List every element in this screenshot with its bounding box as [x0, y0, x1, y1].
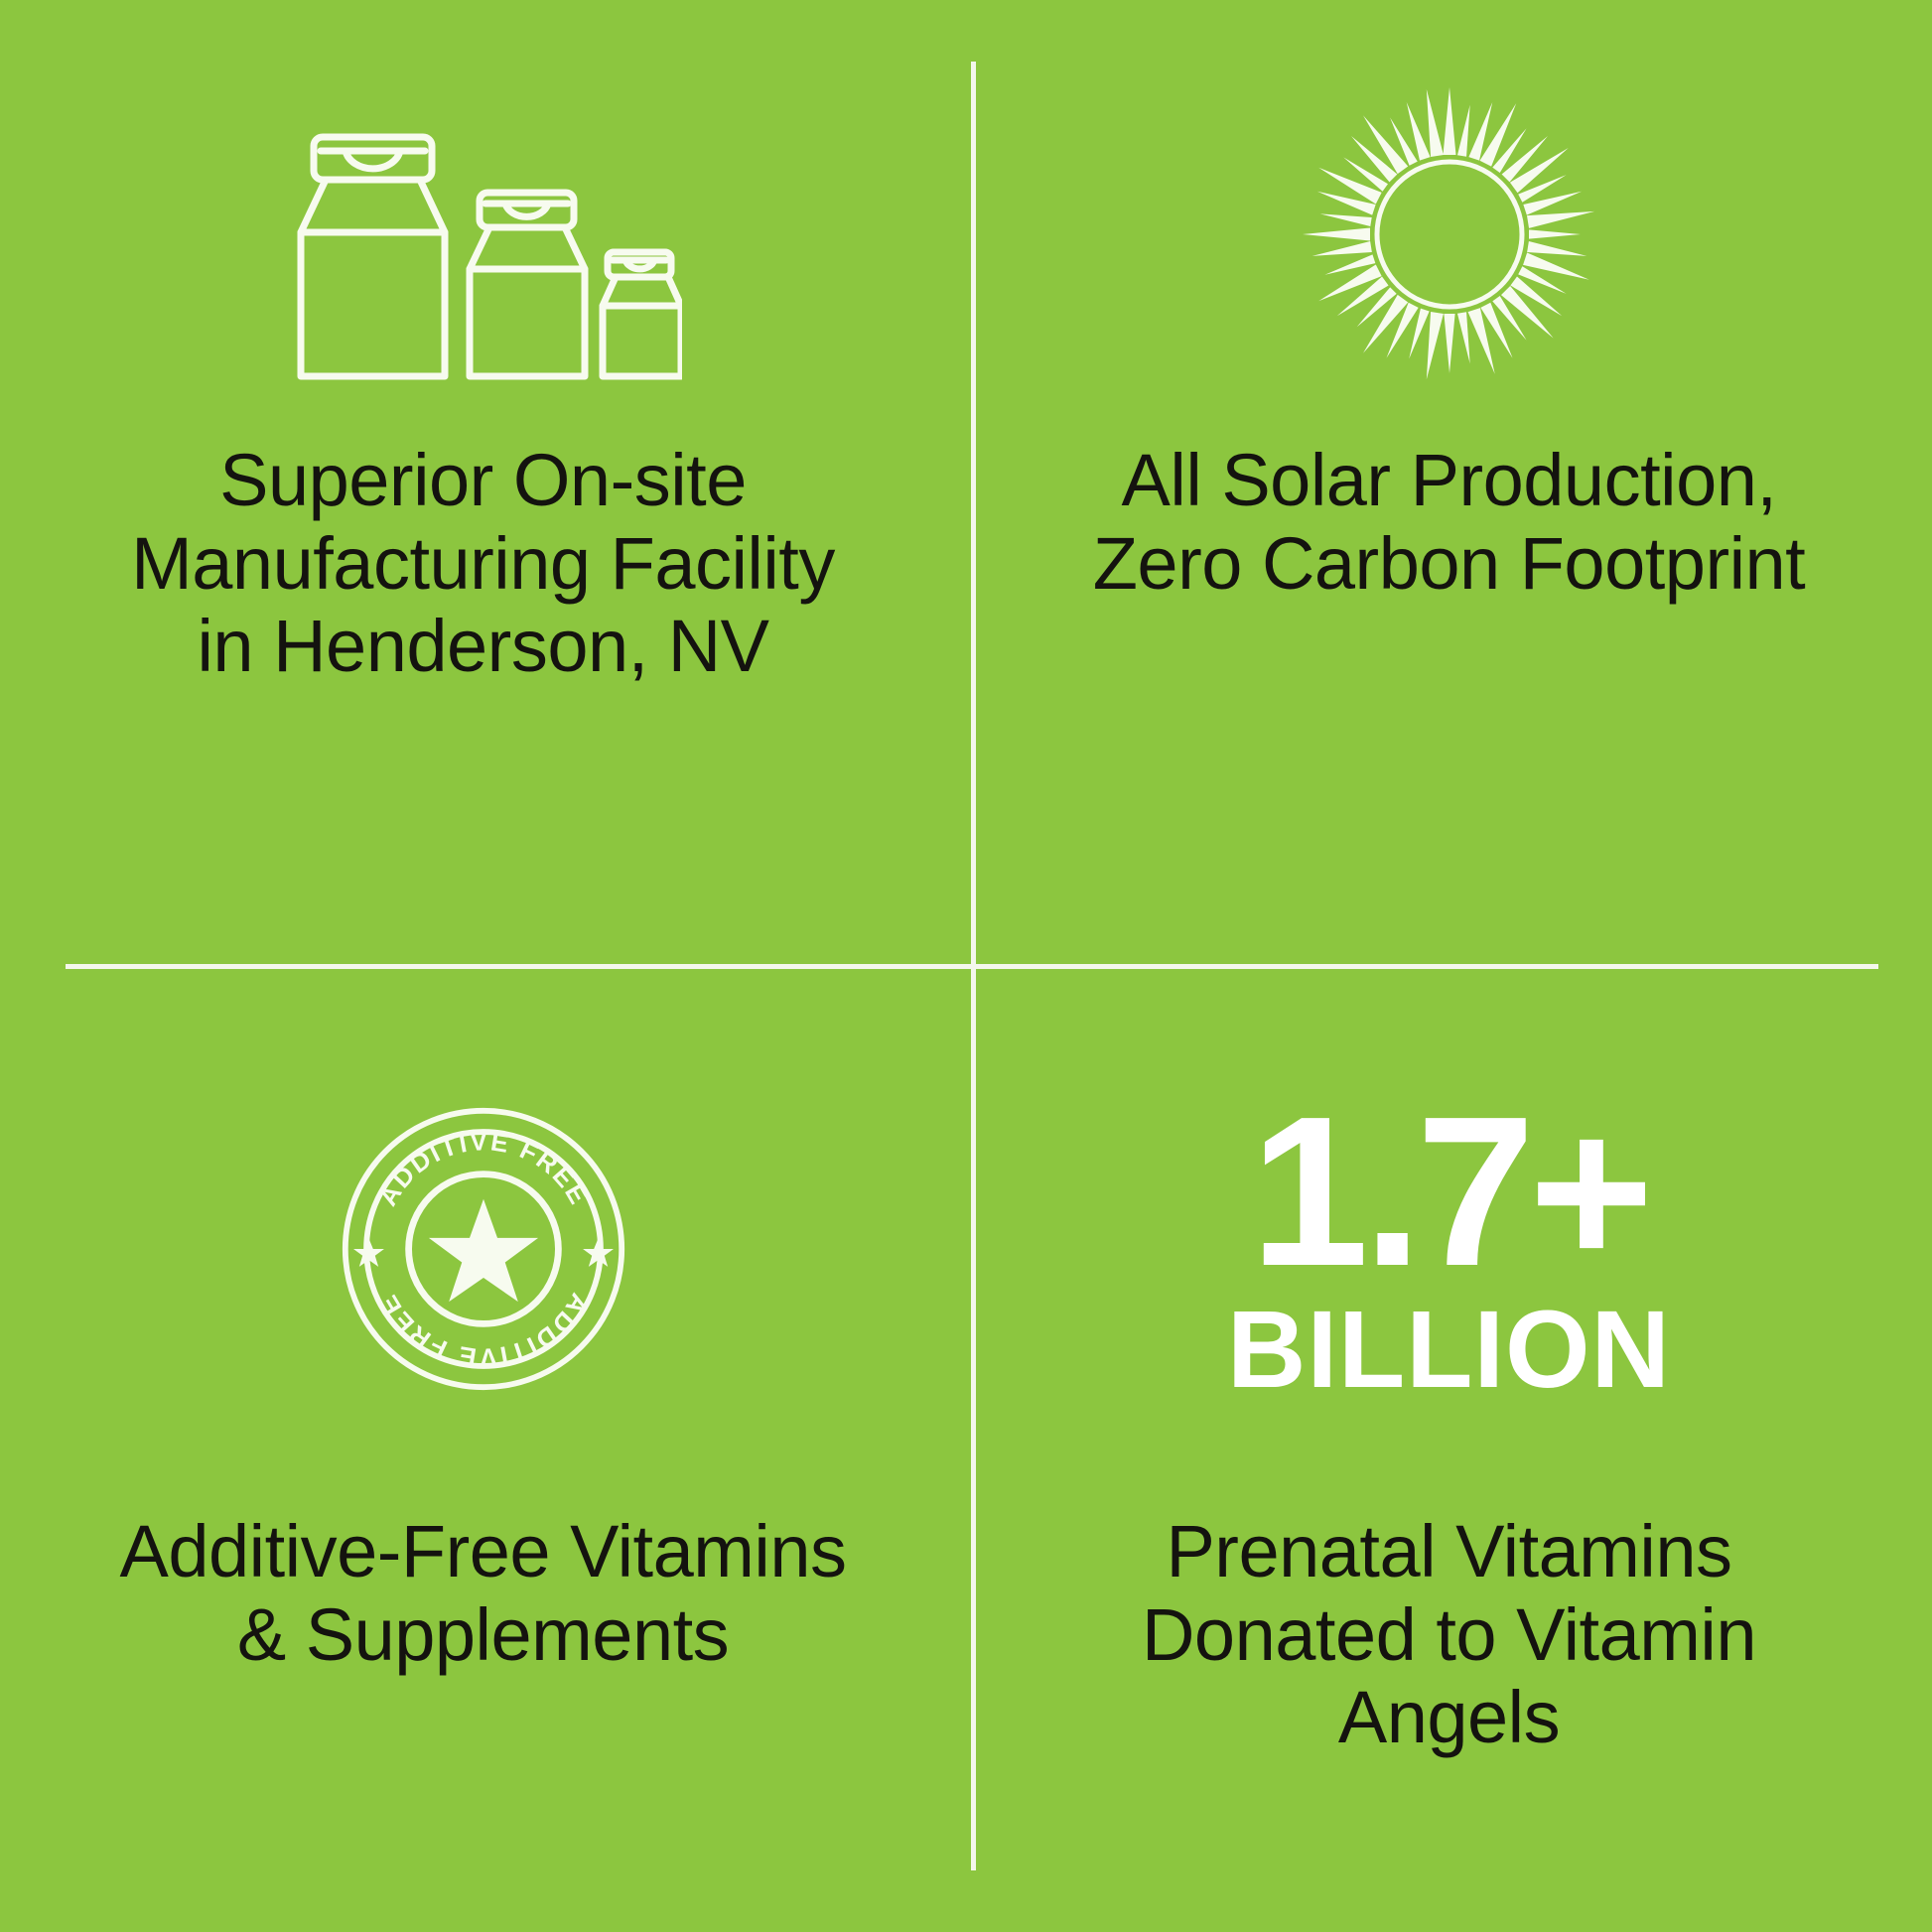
- feature-cell-solar: All Solar Production, Zero Carbon Footpr…: [966, 0, 1932, 966]
- feature-caption-manufacturing: Superior On-site Manufacturing Facility …: [106, 439, 861, 688]
- feature-cell-manufacturing: Superior On-site Manufacturing Facility …: [0, 0, 966, 966]
- badge-text-top: ADDITIVE FREE: [372, 1126, 595, 1210]
- stat-number: 1.7+: [1250, 1093, 1647, 1290]
- stat-unit: BILLION: [1227, 1296, 1671, 1405]
- stat-block: 1.7+ BILLION: [1227, 1093, 1671, 1405]
- feature-caption-additive-free: Additive-Free Vitamins & Supplements: [106, 1510, 861, 1676]
- svg-text:ADDITIVE FREE: ADDITIVE FREE: [372, 1126, 595, 1210]
- feature-caption-donations: Prenatal Vitamins Donated to Vitamin Ang…: [1072, 1510, 1827, 1759]
- sun-icon: [1301, 85, 1598, 383]
- feature-cell-additive-free: ADDITIVE FREE ADDITIVE FREE Additive-Fre…: [0, 966, 966, 1932]
- feature-cell-donations: 1.7+ BILLION Prenatal Vitamins Donated t…: [966, 966, 1932, 1932]
- divider-horizontal: [66, 964, 1878, 969]
- supplement-bottles-icon: [285, 125, 682, 383]
- feature-caption-solar: All Solar Production, Zero Carbon Footpr…: [1072, 439, 1827, 605]
- supplement-bottles-icon-wrap: [285, 85, 682, 383]
- additive-free-badge-icon-wrap: ADDITIVE FREE ADDITIVE FREE: [340, 1085, 627, 1413]
- sun-icon-wrap: [1301, 85, 1598, 383]
- stat-block-wrap: 1.7+ BILLION: [1227, 1085, 1671, 1413]
- additive-free-badge-icon: ADDITIVE FREE ADDITIVE FREE: [340, 1105, 627, 1393]
